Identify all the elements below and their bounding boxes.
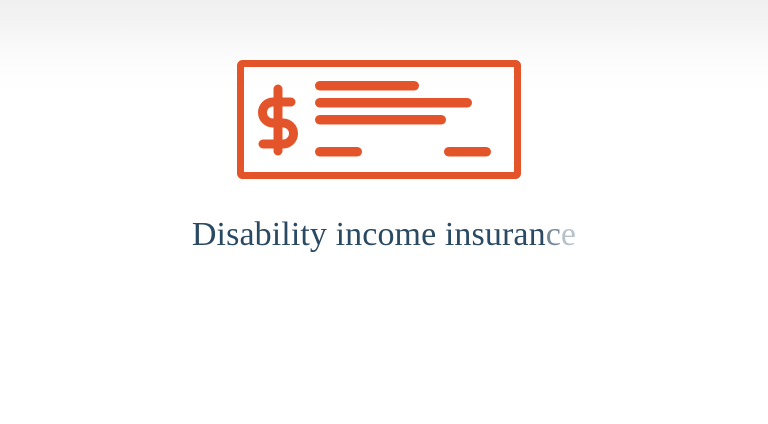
amount-line-2 — [315, 98, 472, 108]
check-payment-icon — [237, 60, 521, 179]
amount-line-3 — [315, 115, 446, 125]
dollar-sign-icon — [263, 89, 294, 151]
caption-title: Disability income insurance — [0, 213, 768, 257]
caption-fading-char-2: e — [561, 216, 576, 253]
caption-fading-char-1: c — [546, 216, 561, 253]
amount-line-1 — [315, 81, 419, 91]
caption-solid-text: Disability income insuran — [192, 216, 546, 253]
check-payment-icon-svg — [237, 60, 521, 179]
slide-canvas: Disability income insurance — [0, 0, 768, 424]
signature-line-right — [444, 147, 491, 157]
signature-line-left — [315, 147, 362, 157]
